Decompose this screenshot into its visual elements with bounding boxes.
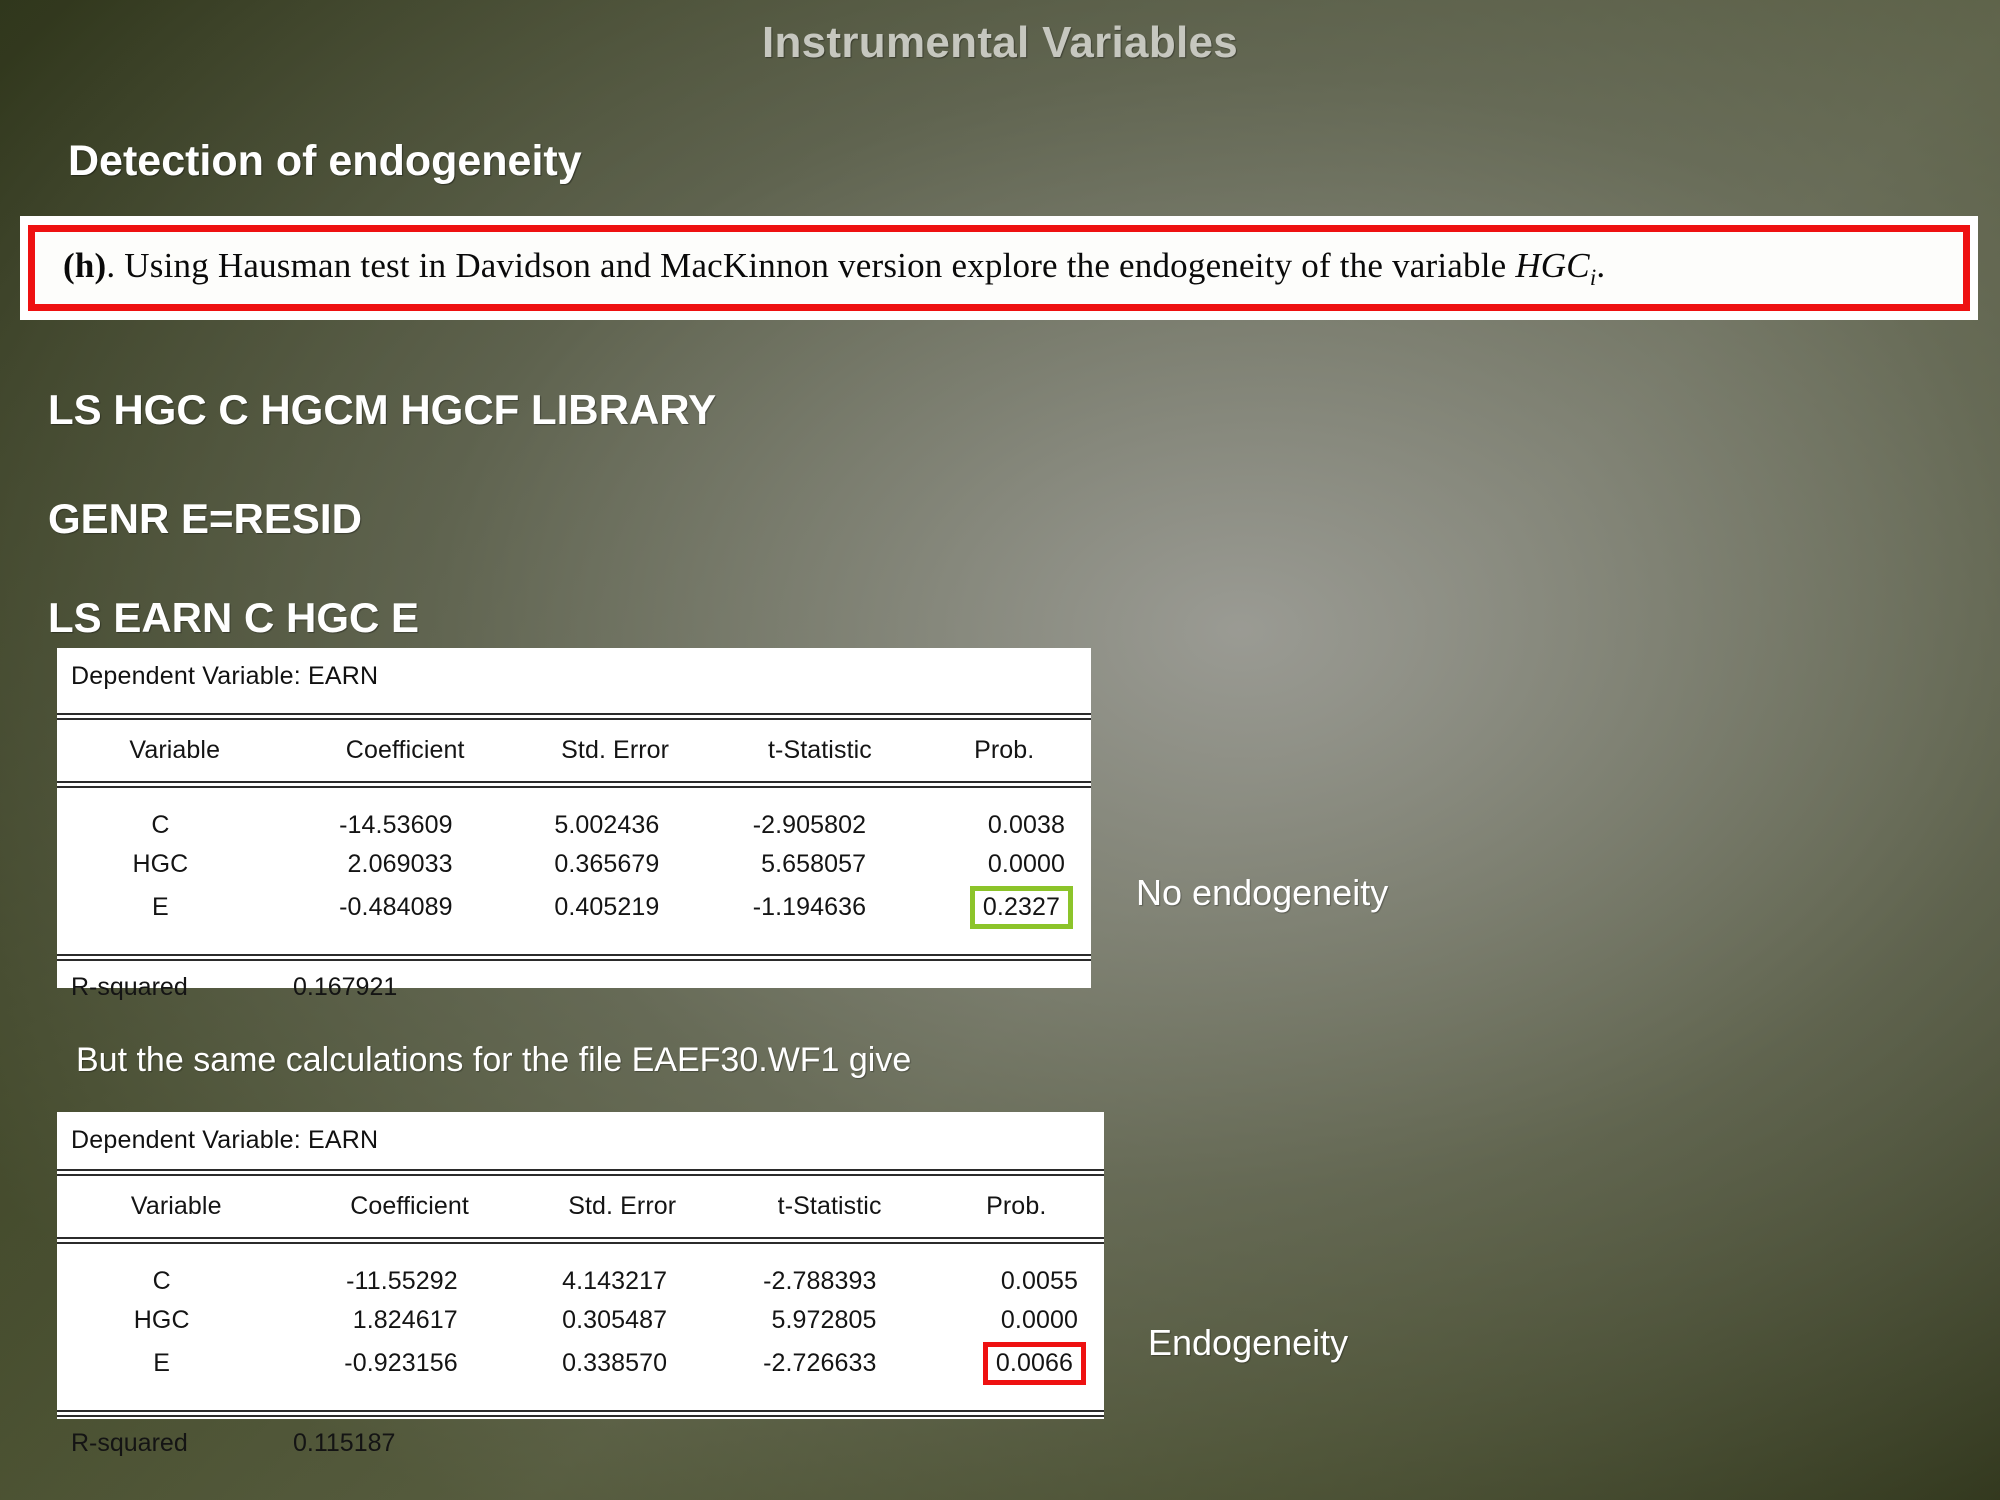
cell-variable: HGC bbox=[57, 845, 264, 884]
table-rule-top-2 bbox=[57, 1169, 1104, 1176]
question-red-frame: (h). Using Hausman test in Davidson and … bbox=[28, 225, 1970, 311]
table-row: C -11.55292 4.143217 -2.788393 0.0055 bbox=[57, 1262, 1104, 1301]
regression-table-2: Variable Coefficient Std. Error t-Statis… bbox=[57, 1176, 1104, 1237]
cell-prob: 0.0000 bbox=[884, 845, 1091, 884]
table-row: HGC 1.824617 0.305487 5.972805 0.0000 bbox=[57, 1301, 1104, 1340]
regression-output-1: Dependent Variable: EARN Variable Coeffi… bbox=[57, 648, 1091, 988]
cell-t-statistic: -2.905802 bbox=[677, 806, 884, 845]
table-rule-mid-2 bbox=[57, 1237, 1104, 1244]
section-heading: Detection of endogeneity bbox=[68, 137, 582, 186]
column-header-std-error: Std. Error bbox=[524, 1176, 721, 1237]
column-header-std-error: Std. Error bbox=[518, 720, 713, 781]
table-row: HGC 2.069033 0.365679 5.658057 0.0000 bbox=[57, 845, 1091, 884]
column-header-variable: Variable bbox=[57, 1176, 296, 1237]
cell-coefficient: -0.484089 bbox=[264, 883, 471, 932]
prob-value: 0.0038 bbox=[980, 809, 1073, 842]
column-header-variable: Variable bbox=[57, 720, 293, 781]
column-header-t-statistic: t-Statistic bbox=[721, 1176, 939, 1237]
column-header-prob: Prob. bbox=[927, 720, 1091, 781]
cell-prob-highlighted: 0.0066 bbox=[895, 1339, 1104, 1388]
page-title: Instrumental Variables bbox=[0, 18, 2000, 68]
question-banner: (h). Using Hausman test in Davidson and … bbox=[20, 216, 1978, 320]
regression-body-1: C -14.53609 5.002436 -2.905802 0.0038 HG… bbox=[57, 788, 1091, 954]
cell-std-error: 4.143217 bbox=[476, 1262, 685, 1301]
regression-body-2: C -11.55292 4.143217 -2.788393 0.0055 HG… bbox=[57, 1244, 1104, 1410]
cell-coefficient: 1.824617 bbox=[266, 1301, 475, 1340]
dependent-variable-line-1: Dependent Variable: EARN bbox=[57, 648, 1091, 691]
column-header-prob: Prob. bbox=[939, 1176, 1105, 1237]
column-header-coefficient: Coefficient bbox=[296, 1176, 524, 1237]
table-row: E -0.484089 0.405219 -1.194636 0.2327 bbox=[57, 883, 1091, 932]
prob-value: 0.0055 bbox=[993, 1265, 1086, 1298]
regression-footer-2: R-squared 0.115187 bbox=[57, 1417, 1104, 1468]
table-rule-mid-1 bbox=[57, 781, 1091, 788]
cell-variable: C bbox=[57, 1262, 266, 1301]
cell-variable: E bbox=[57, 883, 264, 932]
cell-prob: 0.0000 bbox=[895, 1301, 1104, 1340]
table-rule-bottom-2 bbox=[57, 1410, 1104, 1417]
cell-coefficient: -11.55292 bbox=[266, 1262, 475, 1301]
prob-value: 0.0000 bbox=[980, 848, 1073, 881]
command-line-1: LS HGC C HGCM HGCF LIBRARY bbox=[48, 386, 716, 434]
r-squared-value: 0.167921 bbox=[293, 973, 397, 1002]
cell-prob-highlighted: 0.2327 bbox=[884, 883, 1091, 932]
regression-table-1: Variable Coefficient Std. Error t-Statis… bbox=[57, 720, 1091, 781]
r-squared-label: R-squared bbox=[71, 973, 293, 1002]
cell-prob: 0.0055 bbox=[895, 1262, 1104, 1301]
r-squared-value: 0.115187 bbox=[293, 1429, 395, 1458]
cell-variable: E bbox=[57, 1339, 266, 1388]
cell-t-statistic: 5.658057 bbox=[677, 845, 884, 884]
prob-highlight-box-red: 0.0066 bbox=[983, 1342, 1086, 1385]
cell-coefficient: -0.923156 bbox=[266, 1339, 475, 1388]
regression-footer-1: R-squared 0.167921 bbox=[57, 961, 1091, 1012]
table-row: C -14.53609 5.002436 -2.905802 0.0038 bbox=[57, 806, 1091, 845]
question-variable-name: HGC bbox=[1515, 246, 1590, 285]
cell-std-error: 0.365679 bbox=[471, 845, 678, 884]
cell-t-statistic: -2.726633 bbox=[685, 1339, 894, 1388]
annotation-no-endogeneity: No endogeneity bbox=[1136, 872, 1388, 914]
cell-coefficient: -14.53609 bbox=[264, 806, 471, 845]
table-row: E -0.923156 0.338570 -2.726633 0.0066 bbox=[57, 1339, 1104, 1388]
question-variable: HGCi bbox=[1515, 246, 1596, 285]
command-line-2: GENR E=RESID bbox=[48, 495, 362, 543]
middle-note: But the same calculations for the file E… bbox=[76, 1041, 911, 1080]
question-body: . Using Hausman test in Davidson and Mac… bbox=[106, 246, 1515, 285]
cell-coefficient: 2.069033 bbox=[264, 845, 471, 884]
prob-value: 0.0000 bbox=[993, 1304, 1086, 1337]
annotation-endogeneity: Endogeneity bbox=[1148, 1322, 1348, 1364]
table-rule-top-1 bbox=[57, 713, 1091, 720]
cell-t-statistic: -2.788393 bbox=[685, 1262, 894, 1301]
regression-output-2: Dependent Variable: EARN Variable Coeffi… bbox=[57, 1112, 1104, 1419]
r-squared-label: R-squared bbox=[71, 1429, 293, 1458]
column-header-t-statistic: t-Statistic bbox=[712, 720, 927, 781]
question-text: (h). Using Hausman test in Davidson and … bbox=[35, 246, 1605, 291]
table-rule-bottom-1 bbox=[57, 954, 1091, 961]
table-header-row-1: Variable Coefficient Std. Error t-Statis… bbox=[57, 720, 1091, 781]
cell-t-statistic: -1.194636 bbox=[677, 883, 884, 932]
column-header-coefficient: Coefficient bbox=[293, 720, 518, 781]
cell-variable: C bbox=[57, 806, 264, 845]
dependent-variable-line-2: Dependent Variable: EARN bbox=[57, 1112, 1104, 1155]
table-header-row-2: Variable Coefficient Std. Error t-Statis… bbox=[57, 1176, 1104, 1237]
cell-std-error: 0.305487 bbox=[476, 1301, 685, 1340]
cell-std-error: 0.405219 bbox=[471, 883, 678, 932]
cell-prob: 0.0038 bbox=[884, 806, 1091, 845]
cell-t-statistic: 5.972805 bbox=[685, 1301, 894, 1340]
slide-canvas: Instrumental Variables Detection of endo… bbox=[0, 0, 2000, 1500]
question-text-after: . bbox=[1596, 246, 1605, 285]
question-label: (h) bbox=[63, 246, 106, 285]
command-line-3: LS EARN C HGC E bbox=[48, 594, 419, 642]
cell-std-error: 5.002436 bbox=[471, 806, 678, 845]
prob-highlight-box-green: 0.2327 bbox=[970, 886, 1073, 929]
cell-variable: HGC bbox=[57, 1301, 266, 1340]
cell-std-error: 0.338570 bbox=[476, 1339, 685, 1388]
